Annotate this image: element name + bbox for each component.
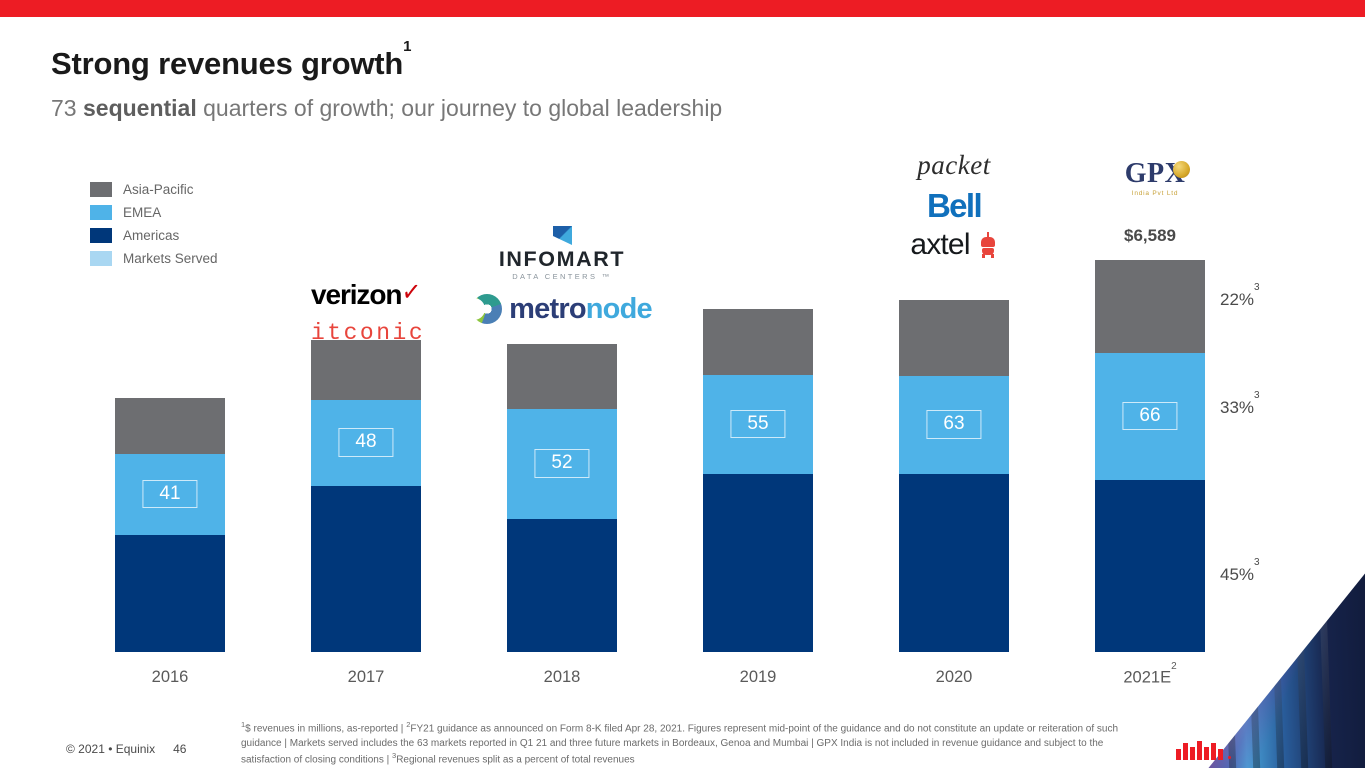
bar-group-2016: $3,61241 bbox=[115, 398, 225, 652]
region-percent-footnote-marker: 3 bbox=[1254, 557, 1260, 568]
region-percent-footnote-marker: 3 bbox=[1254, 390, 1260, 401]
bar-group-2018: 52 bbox=[507, 344, 617, 652]
bar-segment-emea: 63 bbox=[899, 376, 1009, 474]
region-percent-callout-0: 22%3 bbox=[1220, 290, 1260, 310]
verizon-check-icon: ✓ bbox=[401, 278, 421, 308]
x-axis-label-2020: 2020 bbox=[899, 668, 1009, 687]
bar-stack: 63 bbox=[899, 300, 1009, 652]
bar-segment-emea: 55 bbox=[703, 375, 813, 474]
bar-segment-americas bbox=[311, 486, 421, 652]
bar-segment-americas bbox=[507, 519, 617, 652]
bar-segment-asia-pacific bbox=[311, 340, 421, 400]
infomart-tagline: DATA CENTERS ™ bbox=[487, 273, 637, 281]
copyright-text: © 2021 • Equinix bbox=[66, 742, 155, 756]
footnote: 1$ revenues in millions, as-reported | 2… bbox=[241, 720, 1141, 767]
metronode-wordmark-a: metro bbox=[509, 295, 586, 324]
markets-served-badge: 48 bbox=[338, 428, 393, 457]
x-axis-label-text: 2016 bbox=[152, 668, 189, 686]
bar-total-label: $6,589 bbox=[1095, 226, 1205, 246]
page-number: 46 bbox=[173, 742, 186, 756]
gpx-tagline: India Pvt Ltd bbox=[1125, 191, 1186, 198]
packet-logo: packet bbox=[884, 152, 1024, 179]
verizon-logo: verizon✓ bbox=[311, 281, 421, 309]
bar-group-2021E: $6,58966 bbox=[1095, 260, 1205, 652]
axtel-wordmark: axtel bbox=[910, 230, 969, 260]
markets-served-badge: 41 bbox=[142, 480, 197, 509]
region-percent-callout-2: 45%3 bbox=[1220, 565, 1260, 585]
bar-group-2017: 48 bbox=[311, 340, 421, 652]
x-axis-label-2018: 2018 bbox=[507, 668, 617, 687]
bar-segment-emea: 41 bbox=[115, 454, 225, 535]
bar-segment-asia-pacific bbox=[1095, 260, 1205, 353]
infomart-mark-icon bbox=[553, 226, 572, 245]
bar-stack: 41 bbox=[115, 398, 225, 652]
itconic-logo: itconic bbox=[311, 322, 421, 345]
bar-group-2020: 63 bbox=[899, 300, 1009, 652]
x-axis-label-2016: 2016 bbox=[115, 668, 225, 687]
x-axis-label-text: 2019 bbox=[740, 668, 777, 686]
x-axis-label-2017: 2017 bbox=[311, 668, 421, 687]
footer-credit: © 2021 • Equinix46 bbox=[66, 742, 186, 756]
bar-segment-americas bbox=[115, 535, 225, 652]
gpx-globe-icon bbox=[1173, 161, 1190, 178]
logo-group-2021: GPX India Pvt Ltd bbox=[1095, 160, 1215, 200]
bar-stack: 48 bbox=[311, 340, 421, 652]
bar-segment-asia-pacific bbox=[703, 309, 813, 375]
markets-served-badge: 66 bbox=[1122, 402, 1177, 431]
bar-segment-asia-pacific bbox=[115, 398, 225, 454]
region-percent-callout-1: 33%3 bbox=[1220, 398, 1260, 418]
bar-segment-emea: 48 bbox=[311, 400, 421, 486]
axtel-logo: axtel bbox=[884, 230, 1024, 260]
axtel-robot-icon bbox=[978, 232, 998, 258]
x-axis-label-text: 2020 bbox=[936, 668, 973, 686]
markets-served-badge: 55 bbox=[730, 410, 785, 439]
bar-segment-americas bbox=[703, 474, 813, 652]
metronode-wordmark-b: node bbox=[586, 295, 652, 324]
x-axis-label-text: 2021E bbox=[1123, 669, 1171, 687]
region-percent-value: 45% bbox=[1220, 565, 1254, 584]
bar-segment-americas bbox=[899, 474, 1009, 652]
bar-segment-emea: 52 bbox=[507, 409, 617, 519]
x-axis-label-footnote-marker: 2 bbox=[1171, 661, 1177, 672]
x-axis-label-text: 2018 bbox=[544, 668, 581, 686]
markets-served-badge: 52 bbox=[534, 449, 589, 478]
region-percent-footnote-marker: 3 bbox=[1254, 282, 1260, 293]
region-percent-value: 33% bbox=[1220, 398, 1254, 417]
gpx-logo: GPX India Pvt Ltd bbox=[1125, 160, 1186, 198]
bar-stack: 55 bbox=[703, 309, 813, 652]
bar-segment-emea: 66 bbox=[1095, 353, 1205, 480]
logo-group-2017: verizon✓ itconic bbox=[311, 281, 421, 345]
footnote-text-3: Regional revenues split as a percent of … bbox=[396, 754, 634, 765]
verizon-wordmark: verizon bbox=[311, 279, 401, 310]
infomart-logo: INFOMART DATA CENTERS ™ bbox=[487, 226, 637, 280]
bar-stack: 52 bbox=[507, 344, 617, 652]
markets-served-badge: 63 bbox=[926, 410, 981, 439]
x-axis-label-2019: 2019 bbox=[703, 668, 813, 687]
logo-group-2020: packet Bell axtel bbox=[884, 152, 1024, 260]
bar-segment-asia-pacific bbox=[507, 344, 617, 409]
bell-logo: Bell bbox=[884, 189, 1024, 222]
bar-segment-americas bbox=[1095, 480, 1205, 652]
bar-group-2019: 55 bbox=[703, 309, 813, 652]
metronode-logo: metronode bbox=[487, 294, 637, 324]
bar-segment-asia-pacific bbox=[899, 300, 1009, 376]
equinix-registered-dot bbox=[1228, 756, 1231, 759]
footnote-text-1: $ revenues in millions, as-reported | bbox=[245, 723, 406, 734]
metronode-swirl-icon bbox=[472, 294, 502, 324]
infomart-wordmark: INFOMART bbox=[487, 249, 637, 271]
x-axis-label-text: 2017 bbox=[348, 668, 385, 686]
logo-group-2018: INFOMART DATA CENTERS ™ metronode bbox=[487, 226, 637, 324]
region-percent-value: 22% bbox=[1220, 290, 1254, 309]
stacked-bar-chart: $3,612412016482017522018552019632020$6,5… bbox=[0, 0, 1365, 768]
x-axis-label-2021E: 2021E2 bbox=[1095, 668, 1205, 688]
equinix-logo-mark bbox=[1176, 740, 1231, 760]
bar-stack: 66 bbox=[1095, 260, 1205, 652]
